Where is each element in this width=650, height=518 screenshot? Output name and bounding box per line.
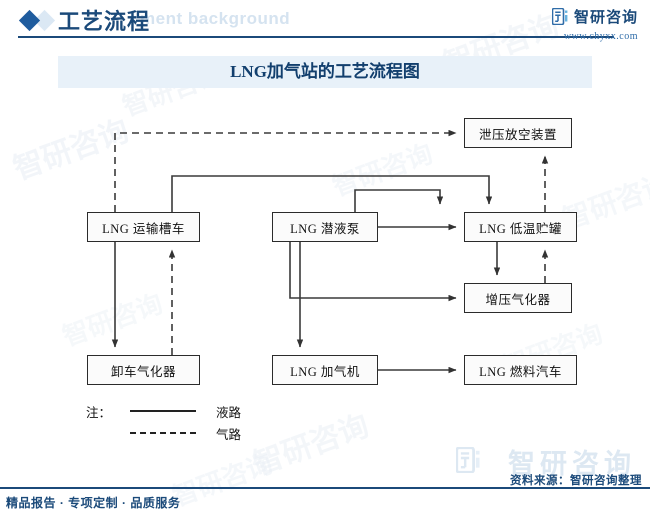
legend-label-gas: 气路 [216,424,241,443]
flow-node-relief: 泄压放空装置 [464,118,572,148]
flow-node-dispenser: LNG 加气机 [272,355,378,385]
edge-tanker-to-relief [115,133,456,212]
brand-url: www.chyxx.com [552,31,638,42]
legend-line-solid [130,410,196,412]
header-ghost-text: ment background [140,9,290,29]
legend-line-dashed [130,432,196,434]
diamond-icon [19,10,40,31]
page-title: 工艺流程 [58,4,150,36]
flow-node-boostvap: 增压气化器 [464,283,572,313]
edge-pump-to-boostvap [290,242,456,298]
legend-label-liquid: 液路 [216,402,241,421]
page-root: 智研咨询智研咨询智研咨询智研咨询智研咨询智研咨询智研咨询智研咨询智研咨询 men… [0,0,650,518]
brand-block: 智研咨询 www.chyxx.com [552,6,638,42]
flow-node-unloadvap: 卸车气化器 [87,355,200,385]
legend-row: 气路 [86,422,241,444]
header-divider [18,36,614,38]
flow-node-pump: LNG 潜液泵 [272,212,378,242]
zhiyan-logo-icon [552,8,569,25]
footer-slogan: 精品报告 · 专项定制 · 品质服务 [6,494,180,511]
source-note: 资料来源：智研咨询整理 [510,472,642,488]
brand-name: 智研咨询 [574,6,638,27]
legend-row: 注： 液路 [86,400,241,422]
edge-pump-recirc [355,190,440,212]
flow-node-tanker: LNG 运输槽车 [87,212,200,242]
edge-tanker-to-cryotank [172,176,489,212]
legend-note-label: 注： [86,402,130,421]
diagram-legend: 注： 液路 气路 [86,400,241,444]
flow-node-vehicle: LNG 燃料汽车 [464,355,577,385]
flow-node-cryotank: LNG 低温贮罐 [464,212,577,242]
